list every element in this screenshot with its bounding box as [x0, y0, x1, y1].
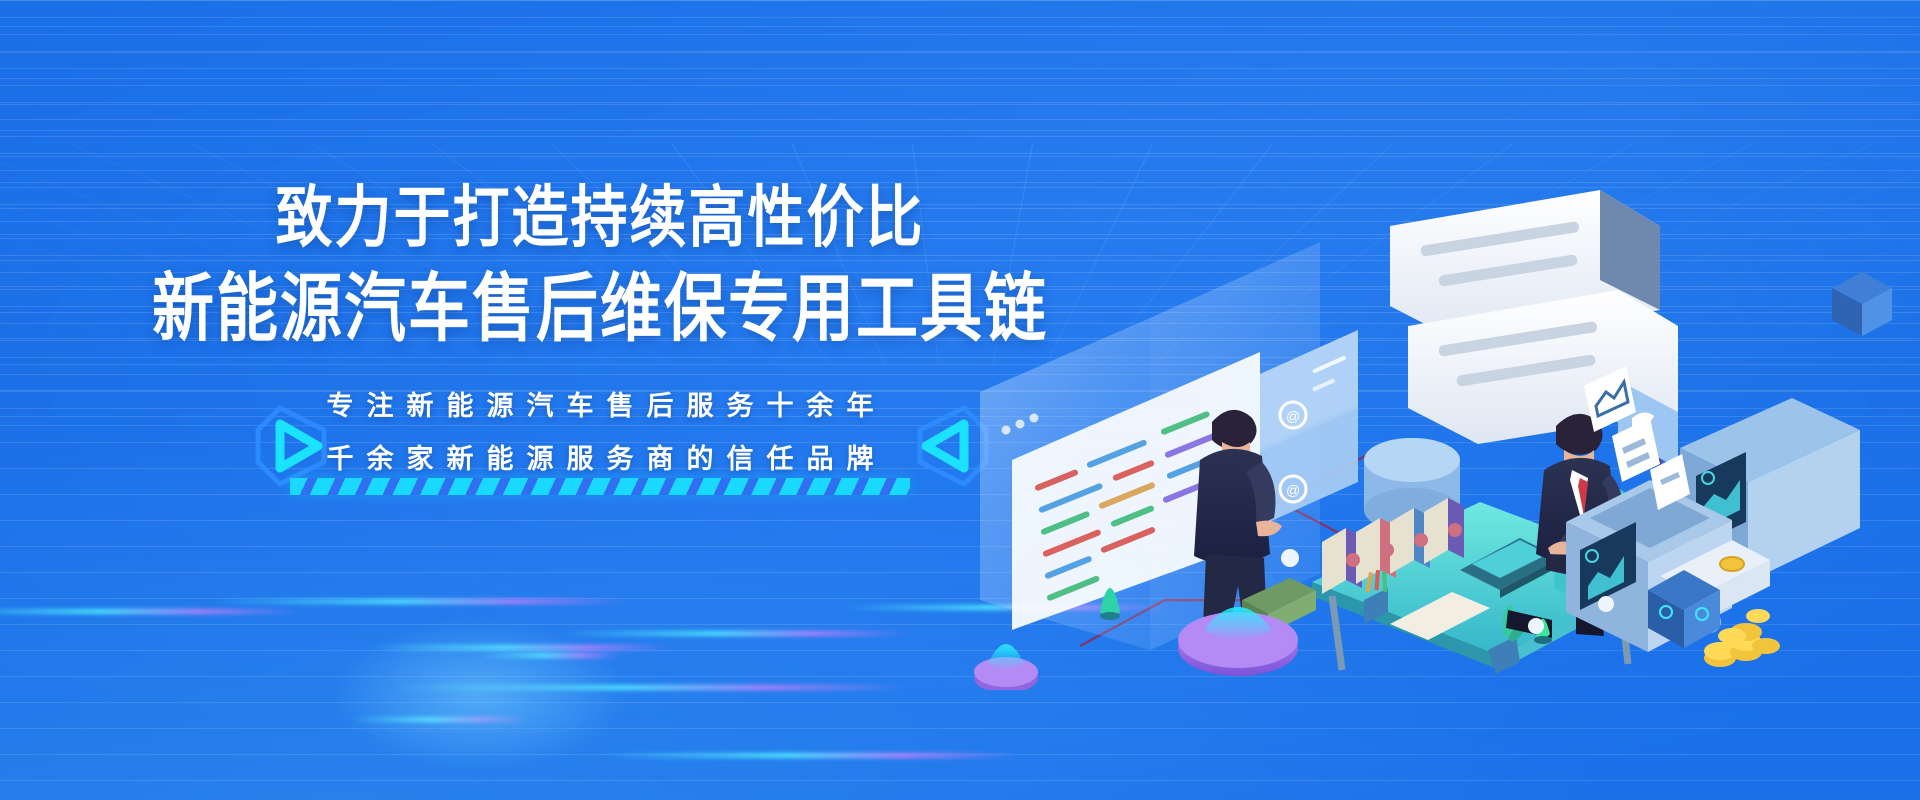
svg-text:@: @ — [1286, 482, 1300, 498]
floating-cube-icon — [1832, 272, 1892, 336]
svg-text:@: @ — [1286, 408, 1300, 424]
isometric-office-illustration: @ @ — [960, 130, 1920, 690]
hero-banner: 致力于打造持续高性价比 新能源汽车售后维保专用工具链 专注新能源汽车售后服务十余… — [0, 0, 1920, 800]
glow-pedestal — [974, 644, 1038, 690]
diagonal-stripe-bar — [290, 478, 910, 495]
